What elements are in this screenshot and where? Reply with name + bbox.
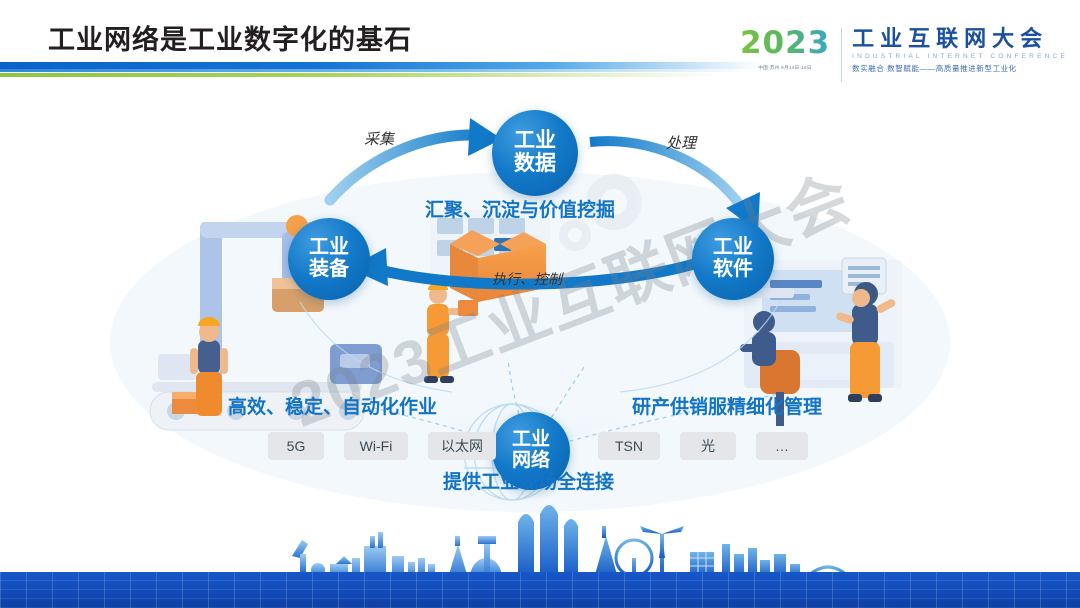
tech-tag-3[interactable]: TSN xyxy=(598,432,660,460)
logo-divider xyxy=(841,28,842,82)
logo-year: 2023 xyxy=(737,28,833,59)
node-industrial-data[interactable]: 工业 数据 xyxy=(492,110,578,196)
arrow-label-collect: 采集 xyxy=(364,128,394,149)
node-industrial-software-line2: 软件 xyxy=(713,259,753,281)
logo-year-block: 2023 中国·苏州 9月14日-16日 xyxy=(737,26,833,71)
conference-logo: 2023 中国·苏州 9月14日-16日 工业互联网大会 INDUSTRIAL … xyxy=(737,26,1068,84)
node-industrial-equipment-line1: 工业 xyxy=(309,237,349,259)
slide-footer xyxy=(0,498,1080,608)
tech-tag-5[interactable]: … xyxy=(756,432,808,460)
diagram-stage: 2023工业互联网大会 工业 数据 工业 装备 工业 软件 工业 网络 汇聚、沉… xyxy=(0,92,1080,522)
divider-blue-band xyxy=(0,62,760,69)
divider-blue-band-2 xyxy=(0,69,750,72)
node-industrial-software[interactable]: 工业 软件 xyxy=(692,218,774,300)
divider-green-band xyxy=(0,73,720,77)
slide-header: 工业网络是工业数字化的基石 2023 中国·苏州 9月14日-16日 工业互联网… xyxy=(0,0,1080,92)
node-industrial-data-line1: 工业 xyxy=(514,130,556,153)
footer-floor-grid xyxy=(0,572,1080,608)
logo-name-block: 工业互联网大会 INDUSTRIAL INTERNET CONFERENCE 数… xyxy=(852,26,1068,74)
logo-slogan: 数实融合 数智赋能——高质量推进新型工业化 xyxy=(852,63,1068,74)
node-industrial-equipment[interactable]: 工业 装备 xyxy=(288,218,370,300)
logo-name-cn: 工业互联网大会 xyxy=(852,27,1068,50)
city-skyline-illustration xyxy=(0,496,1080,578)
tech-tag-4[interactable]: 光 xyxy=(680,432,736,460)
caption-equipment: 高效、稳定、自动化作业 xyxy=(228,392,437,419)
node-industrial-data-line2: 数据 xyxy=(514,153,556,176)
tech-tag-1[interactable]: Wi-Fi xyxy=(344,432,408,460)
tech-tag-0[interactable]: 5G xyxy=(268,432,324,460)
page-title: 工业网络是工业数字化的基石 xyxy=(48,18,412,57)
network-tech-tags: 5GWi-Fi以太网TSN光… xyxy=(268,432,808,462)
arrow-label-process: 处理 xyxy=(666,132,696,153)
caption-software: 研产供销服精细化管理 xyxy=(632,392,822,419)
arrow-label-execute: 执行、控制 xyxy=(492,269,562,289)
node-industrial-equipment-line2: 装备 xyxy=(309,259,349,281)
node-industrial-software-line1: 工业 xyxy=(713,237,753,259)
tech-tag-2[interactable]: 以太网 xyxy=(428,432,496,460)
logo-meta-text: 中国·苏州 9月14日-16日 xyxy=(741,64,829,70)
slide-root: 工业网络是工业数字化的基石 2023 中国·苏州 9月14日-16日 工业互联网… xyxy=(0,0,1080,608)
logo-name-en: INDUSTRIAL INTERNET CONFERENCE xyxy=(852,53,1068,60)
caption-data: 汇聚、沉淀与价值挖掘 xyxy=(425,195,615,222)
caption-network: 提供工业现场全连接 xyxy=(443,467,614,494)
